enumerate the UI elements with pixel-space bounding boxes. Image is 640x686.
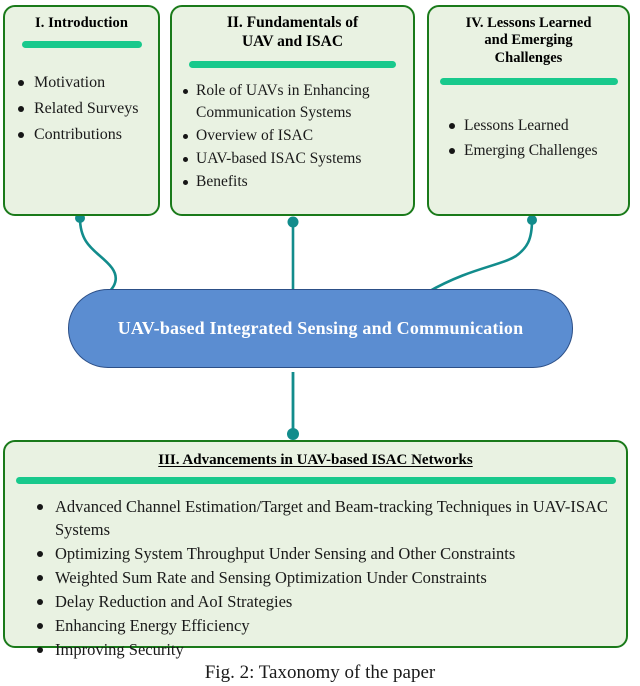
node-list-advancements: Advanced Channel Estimation/Target and B… (33, 495, 626, 661)
connector-introduction (80, 218, 116, 300)
connector-lessons (428, 220, 532, 292)
connector-dot-advancements (287, 428, 299, 440)
list-item: Advanced Channel Estimation/Target and B… (33, 495, 626, 541)
list-item: Enhancing Energy Efficiency (33, 614, 626, 637)
list-item: Contributions (17, 122, 158, 148)
node-title-lessons-learned: IV. Lessons Learned and Emerging Challen… (429, 15, 628, 67)
node-list-introduction: Motivation Related Surveys Contributions (17, 70, 158, 148)
node-title-line: IV. Lessons Learned (429, 15, 628, 32)
divider-bar-lessons-learned (440, 78, 618, 85)
list-item: UAV-based ISAC Systems (181, 148, 413, 170)
list-item: Role of UAVs in Enhancing Communication … (181, 80, 413, 124)
central-hub-node[interactable]: UAV-based Integrated Sensing and Communi… (68, 289, 573, 368)
node-title-line: and Emerging (429, 32, 628, 49)
figure-caption: Fig. 2: Taxonomy of the paper (0, 662, 640, 684)
divider-bar-advancements (16, 477, 616, 484)
node-title-line: II. Fundamentals of (172, 14, 413, 33)
node-title-line: Challenges (429, 50, 628, 67)
taxonomy-figure: I. Introduction Motivation Related Surve… (0, 0, 640, 686)
divider-bar-introduction (22, 41, 142, 48)
node-list-fundamentals: Role of UAVs in Enhancing Communication … (181, 80, 413, 193)
list-item: Weighted Sum Rate and Sensing Optimizati… (33, 566, 626, 589)
divider-bar-fundamentals (189, 61, 396, 68)
list-item: Benefits (181, 171, 413, 193)
list-item: Overview of ISAC (181, 125, 413, 147)
node-title-introduction: I. Introduction (5, 15, 158, 32)
node-title-fundamentals: II. Fundamentals of UAV and ISAC (172, 14, 413, 51)
node-box-fundamentals[interactable]: II. Fundamentals of UAV and ISAC Role of… (170, 5, 415, 216)
list-item: Improving Security (33, 638, 626, 661)
list-item: Related Surveys (17, 96, 158, 122)
list-item: Optimizing System Throughput Under Sensi… (33, 542, 626, 565)
list-item: Lessons Learned (447, 113, 628, 138)
node-box-advancements[interactable]: III. Advancements in UAV-based ISAC Netw… (3, 440, 628, 648)
central-hub-label: UAV-based Integrated Sensing and Communi… (118, 318, 524, 339)
list-item: Delay Reduction and AoI Strategies (33, 590, 626, 613)
list-item: Motivation (17, 70, 158, 96)
node-box-lessons-learned[interactable]: IV. Lessons Learned and Emerging Challen… (427, 5, 630, 216)
connector-dot-lessons (527, 215, 537, 225)
node-title-line: UAV and ISAC (172, 33, 413, 52)
node-list-lessons-learned: Lessons Learned Emerging Challenges (447, 113, 628, 163)
node-title-advancements: III. Advancements in UAV-based ISAC Netw… (5, 451, 626, 469)
connector-dot-fundamentals (288, 217, 299, 228)
node-box-introduction[interactable]: I. Introduction Motivation Related Surve… (3, 5, 160, 216)
list-item: Emerging Challenges (447, 138, 628, 163)
